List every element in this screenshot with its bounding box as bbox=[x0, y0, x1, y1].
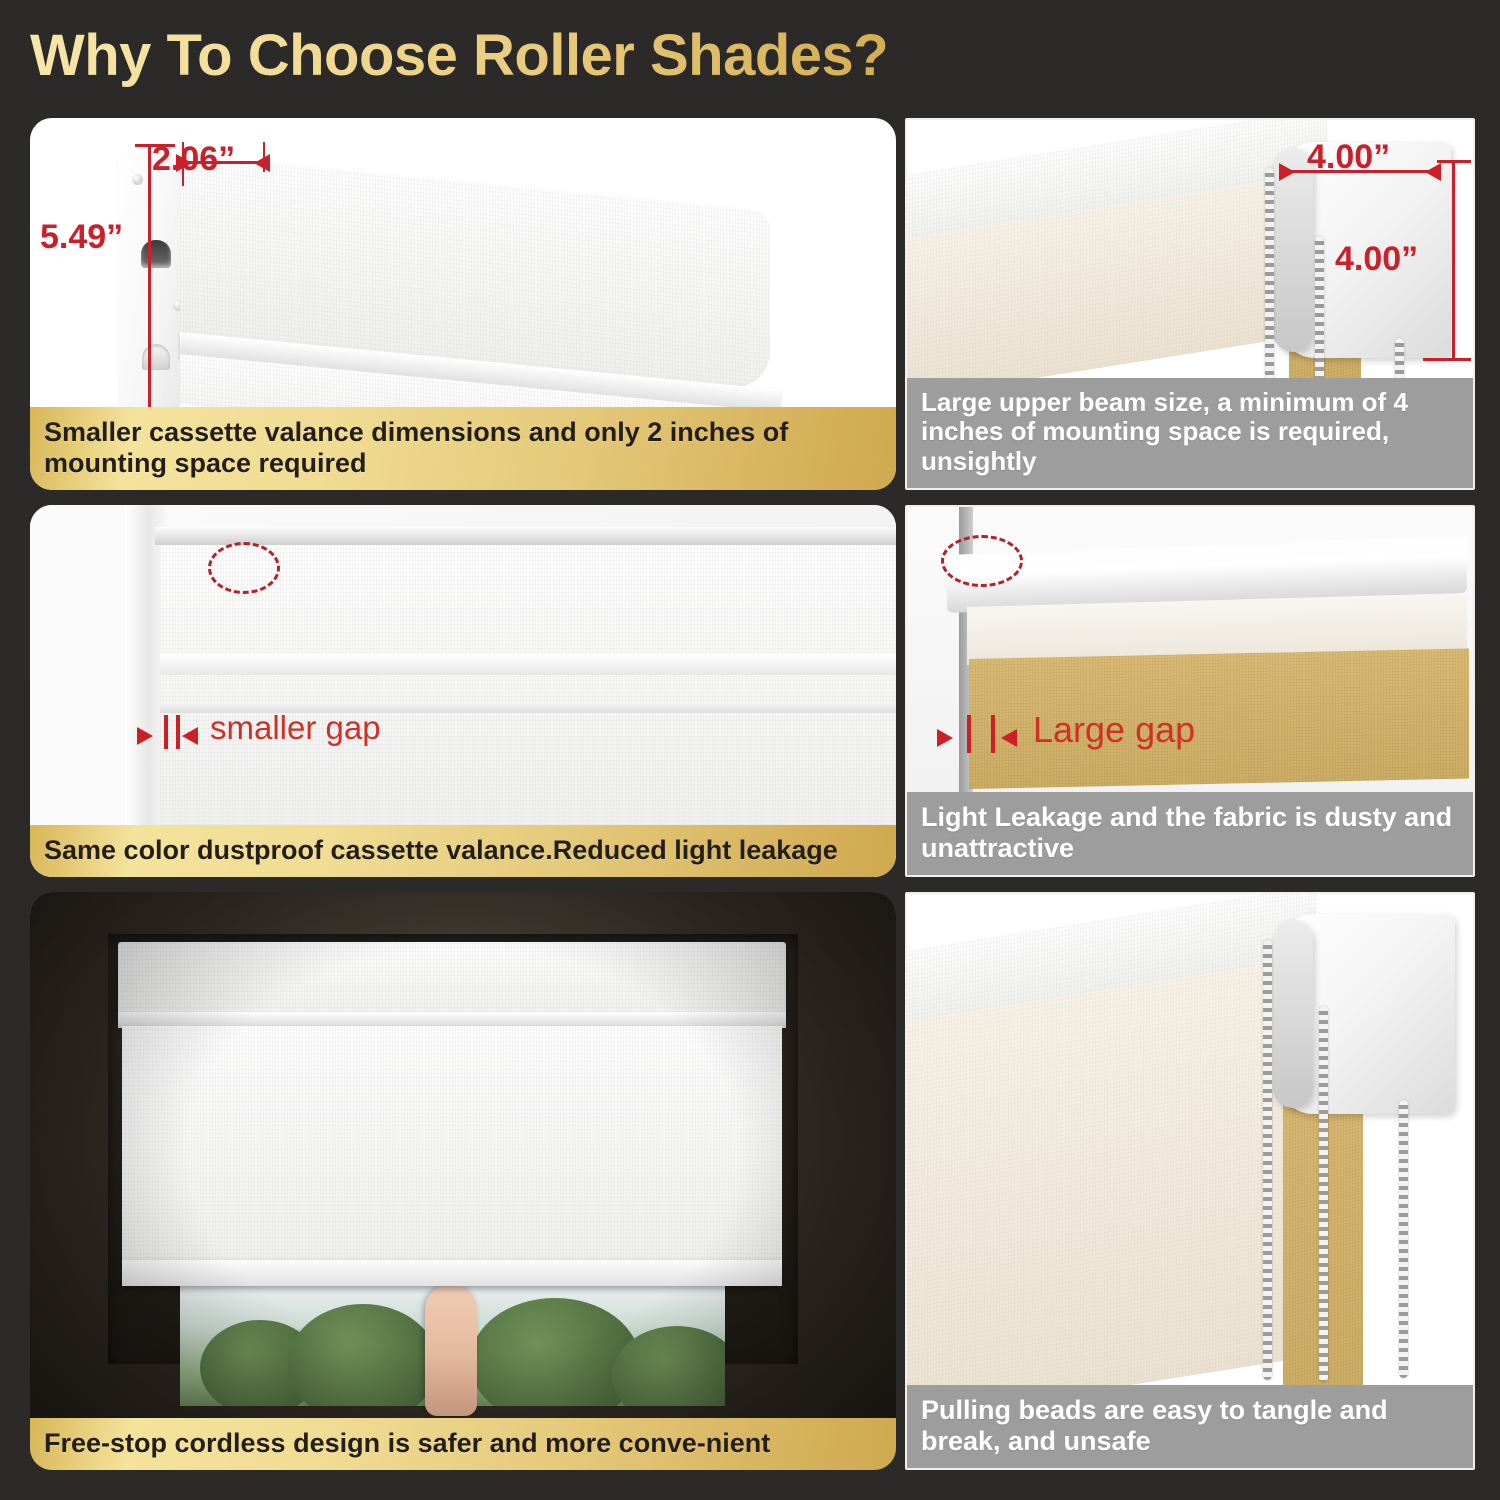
panel-caption: Light Leakage and the fabric is dusty an… bbox=[907, 792, 1473, 875]
bracket-knob bbox=[142, 344, 170, 370]
dimension-label-height: 5.49” bbox=[40, 218, 123, 257]
bead-chain-1 bbox=[1263, 940, 1272, 1380]
fabric-band-1 bbox=[160, 653, 896, 675]
panel-caption: Pulling beads are easy to tangle and bre… bbox=[907, 1385, 1473, 1468]
panel-cassette-dimensions: 2.06” 5.49” Smaller cassette valance dim… bbox=[30, 118, 896, 490]
highlight-circle-gap bbox=[941, 535, 1023, 587]
gap-arrow-left bbox=[137, 727, 153, 745]
cassette-head-rail bbox=[155, 527, 896, 545]
shade-fabric bbox=[122, 1026, 782, 1266]
bracket-end-cap bbox=[1273, 920, 1313, 1108]
product-photo-bead-chain bbox=[907, 894, 1473, 1468]
gap-tick-left bbox=[967, 715, 971, 753]
panel-cordless-design: Free-stop cordless design is safer and m… bbox=[30, 892, 896, 1470]
dim-beam-height-line bbox=[1452, 160, 1455, 360]
dimension-label-beam-height: 4.00” bbox=[1335, 240, 1418, 279]
bottom-rail bbox=[122, 1260, 782, 1286]
gap-tick-right bbox=[176, 715, 180, 749]
gap-tick-right bbox=[991, 715, 995, 753]
panel-dustproof-valance: smaller gap Same color dustproof cassett… bbox=[30, 505, 896, 877]
gap-label: Large gap bbox=[1033, 709, 1195, 751]
hand-reaching bbox=[425, 1284, 477, 1416]
cassette-valance bbox=[118, 942, 786, 1020]
panel-large-upper-beam: 4.00” 4.00” Large upper beam size, a min… bbox=[905, 118, 1475, 490]
highlight-circle-gap bbox=[208, 542, 280, 594]
gap-arrow-right bbox=[1001, 729, 1017, 747]
panel-light-leakage: Large gap Light Leakage and the fabric i… bbox=[905, 505, 1475, 877]
gap-label: smaller gap bbox=[210, 709, 381, 747]
gap-tick-left bbox=[164, 715, 168, 749]
gap-arrow-left bbox=[937, 729, 953, 747]
product-photo-smaller-gap: smaller gap bbox=[30, 505, 896, 877]
panel-caption: Same color dustproof cassette valance.Re… bbox=[30, 825, 896, 878]
bead-chain-2 bbox=[1319, 1006, 1328, 1382]
dimension-label-beam-width: 4.00” bbox=[1307, 138, 1390, 177]
dim-beam-width-arrow-right bbox=[1425, 163, 1441, 181]
dim-beam-width-arrow-left bbox=[1279, 163, 1295, 181]
bead-chain-3 bbox=[1399, 1100, 1408, 1378]
product-photo-window-scene bbox=[30, 892, 896, 1470]
dim-width-arrow-right bbox=[254, 154, 270, 172]
gap-arrow-right bbox=[182, 727, 198, 745]
tree-2 bbox=[288, 1304, 438, 1406]
dim-beam-height-cap-bottom bbox=[1423, 358, 1471, 361]
panel-caption: Large upper beam size, a minimum of 4 in… bbox=[907, 378, 1473, 488]
comparison-grid: 2.06” 5.49” Smaller cassette valance dim… bbox=[0, 0, 1500, 1500]
shade-fabric bbox=[160, 545, 896, 845]
dim-beam-height-cap-top bbox=[1437, 160, 1471, 163]
panel-caption: Free-stop cordless design is safer and m… bbox=[30, 1418, 896, 1471]
shade-fabric bbox=[905, 955, 1317, 1422]
bracket-slot bbox=[141, 240, 171, 268]
dim-height-cap-top bbox=[135, 144, 175, 147]
dim-height-line bbox=[148, 144, 151, 436]
panel-pulling-beads: Pulling beads are easy to tangle and bre… bbox=[905, 892, 1475, 1470]
panel-caption: Smaller cassette valance dimensions and … bbox=[30, 407, 896, 490]
screw-top bbox=[132, 174, 143, 185]
bead-chain-1 bbox=[1265, 168, 1274, 410]
